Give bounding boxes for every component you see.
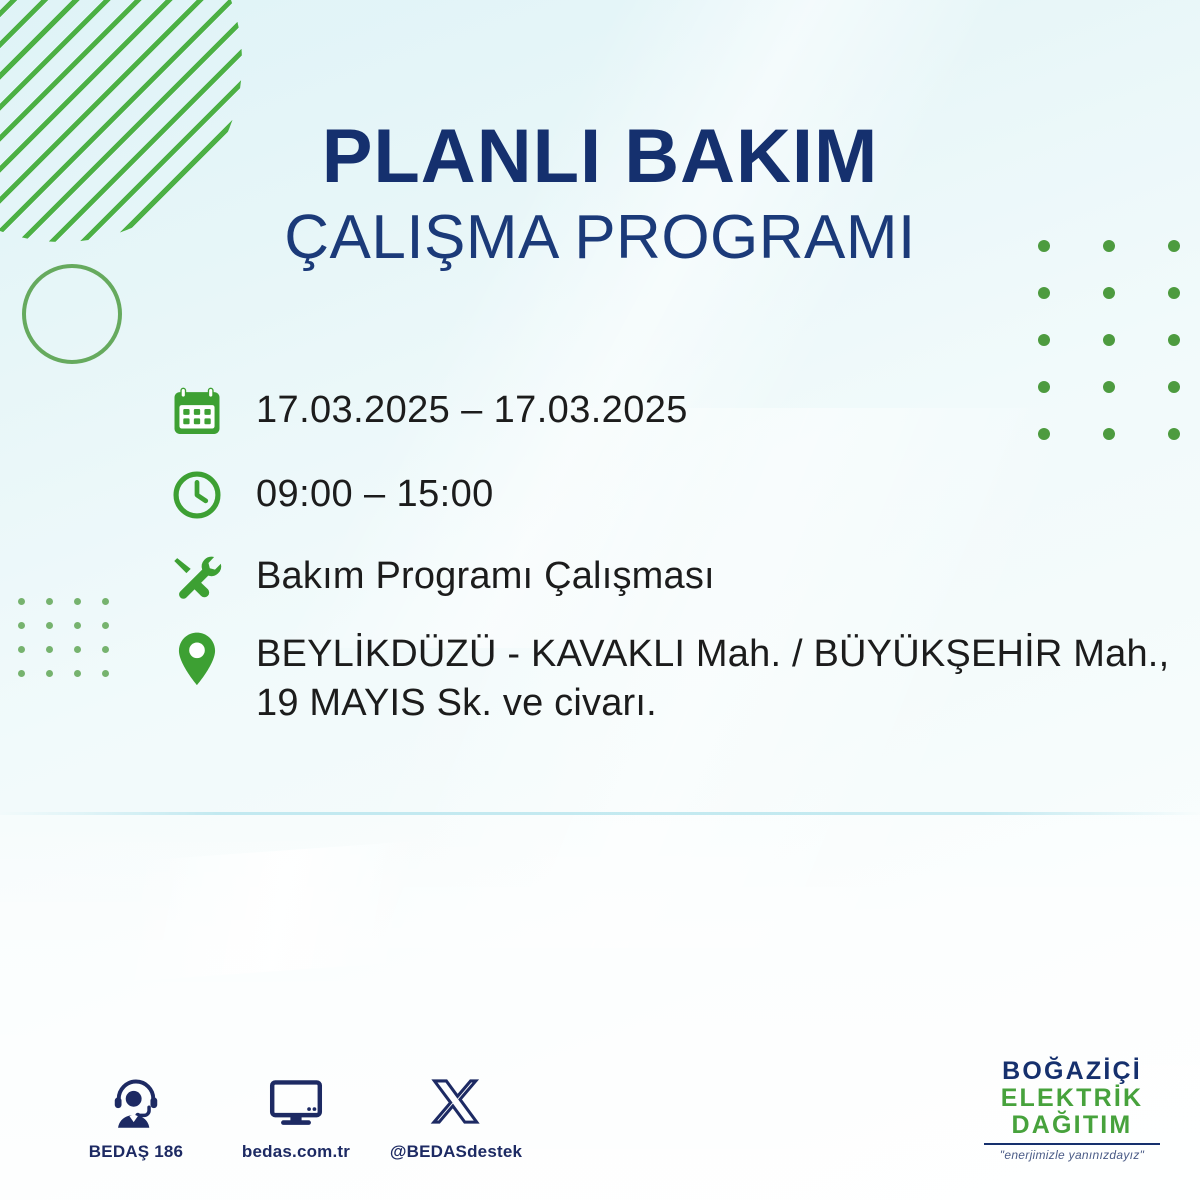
logo-line-1: BOĞAZİÇİ xyxy=(972,1058,1172,1085)
background-band-edge xyxy=(0,812,1200,815)
title-main: PLANLI BAKIM xyxy=(0,118,1200,196)
contact-label-website: bedas.com.tr xyxy=(216,1142,376,1162)
title-sub: ÇALIŞMA PROGRAMI xyxy=(0,204,1200,272)
contact-item-call-center[interactable]: BEDAŞ 186 xyxy=(56,1072,216,1162)
clock-icon xyxy=(168,466,226,524)
tools-icon xyxy=(168,548,226,606)
footer-contacts: BEDAŞ 186 bedas.com.tr @BEDASdestek xyxy=(56,1072,536,1162)
contact-label-x: @BEDASdestek xyxy=(376,1142,536,1162)
contact-item-website[interactable]: bedas.com.tr xyxy=(216,1072,376,1162)
detail-location: BEYLİKDÜZÜ - KAVAKLI Mah. / BÜYÜKŞEHİR M… xyxy=(226,630,1178,727)
calendar-icon xyxy=(168,382,226,440)
logo-line-2: ELEKTRİK xyxy=(972,1085,1172,1112)
page-title: PLANLI BAKIM ÇALIŞMA PROGRAMI xyxy=(0,118,1200,272)
logo-tagline: "enerjimizle yanınızdayız" xyxy=(972,1148,1172,1162)
headset-operator-icon xyxy=(56,1072,216,1134)
contact-label-call-center: BEDAŞ 186 xyxy=(56,1142,216,1162)
logo-line-3: DAĞITIM xyxy=(972,1112,1172,1139)
monitor-icon xyxy=(216,1072,376,1134)
contact-item-x[interactable]: @BEDASdestek xyxy=(376,1072,536,1162)
background-wave xyxy=(0,822,703,995)
bedas-logo: BOĞAZİÇİ ELEKTRİK DAĞITIM "enerjimizle y… xyxy=(972,1058,1172,1162)
detail-row-location: BEYLİKDÜZÜ - KAVAKLI Mah. / BÜYÜKŞEHİR M… xyxy=(168,630,1178,727)
map-pin-icon xyxy=(168,630,226,688)
dot-grid-left xyxy=(18,598,130,694)
detail-work-type: Bakım Programı Çalışması xyxy=(226,548,1178,601)
logo-divider xyxy=(984,1143,1160,1145)
details-list: 17.03.2025 – 17.03.2025 09:00 – 15:00 Ba… xyxy=(168,382,1178,753)
detail-row-date: 17.03.2025 – 17.03.2025 xyxy=(168,382,1178,440)
circle-outline-icon xyxy=(22,264,122,364)
detail-row-time: 09:00 – 15:00 xyxy=(168,466,1178,524)
detail-date-range: 17.03.2025 – 17.03.2025 xyxy=(226,382,1178,435)
x-twitter-icon xyxy=(376,1072,536,1134)
planned-maintenance-poster: PLANLI BAKIM ÇALIŞMA PROGRAMI xyxy=(0,0,1200,1200)
detail-row-work-type: Bakım Programı Çalışması xyxy=(168,548,1178,606)
detail-time-range: 09:00 – 15:00 xyxy=(226,466,1178,519)
